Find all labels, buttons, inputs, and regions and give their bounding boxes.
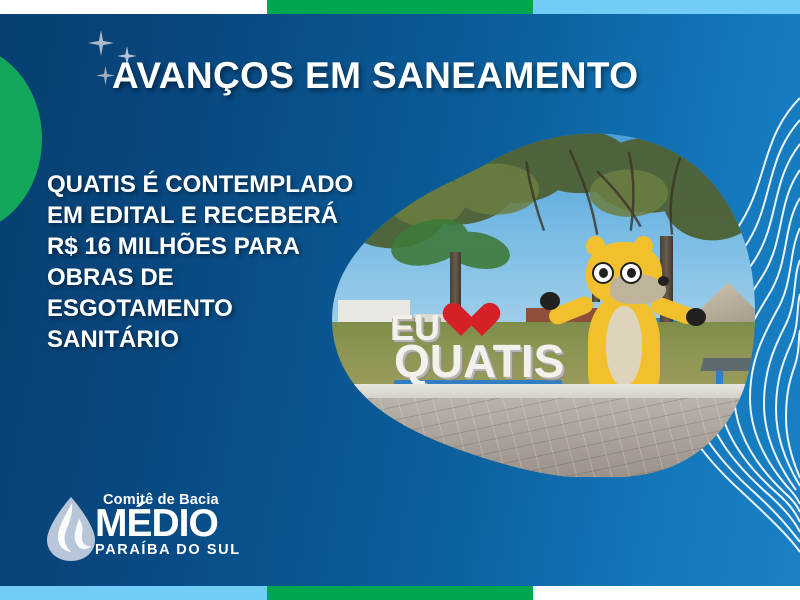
committee-logo: Comitê de Bacia MÉDIO PARAÍBA DO SUL	[45, 492, 250, 568]
strip-segment-white	[533, 586, 800, 600]
mascot-paw-left	[540, 292, 560, 310]
table-top	[700, 358, 755, 371]
mascot-pupil	[627, 268, 636, 278]
mascot-belly	[606, 306, 642, 386]
water-drop-icon	[45, 496, 97, 562]
logo-line-mid: MÉDIO	[95, 507, 255, 541]
mascot-paw-right	[686, 308, 706, 326]
top-color-strip	[0, 0, 800, 14]
green-circle-decoration	[0, 45, 42, 233]
body-line: ESGOTAMENTO	[47, 294, 377, 325]
mascot-pupil	[599, 268, 608, 278]
mascot-eye-left	[592, 262, 614, 284]
banner-graphic: AVANÇOS EM SANEAMENTO QUATIS É CONTEMPLA…	[0, 0, 800, 600]
body-line: R$ 16 MILHÕES PARA	[47, 232, 377, 263]
photo-tree-canopy	[330, 132, 755, 305]
sign-word-quatis: QUATIS	[394, 338, 564, 384]
photo-paving	[330, 398, 755, 477]
strip-segment-lightblue	[0, 586, 267, 600]
body-line: OBRAS DE	[47, 263, 377, 294]
body-copy: QUATIS É CONTEMPLADO EM EDITAL E RECEBER…	[47, 170, 377, 356]
photo-blob: EU QUATIS	[330, 132, 755, 477]
logo-line-bottom: PARAÍBA DO SUL	[95, 542, 255, 558]
body-line: QUATIS É CONTEMPLADO	[47, 170, 377, 201]
eu-quatis-sign: EU QUATIS	[390, 300, 565, 392]
page-title: AVANÇOS EM SANEAMENTO	[112, 57, 752, 96]
body-line: EM EDITAL E RECEBERÁ	[47, 201, 377, 232]
strip-segment-white	[0, 0, 267, 14]
logo-text: Comitê de Bacia MÉDIO PARAÍBA DO SUL	[95, 492, 255, 558]
strip-segment-lightblue	[533, 0, 800, 14]
quatis-square-photo: EU QUATIS	[330, 132, 755, 477]
bottom-color-strip	[0, 586, 800, 600]
strip-segment-green	[267, 0, 533, 14]
mascot-nose	[658, 276, 669, 286]
sparkle-icon	[88, 30, 114, 56]
mascot-eye-right	[620, 262, 642, 284]
body-line: SANITÁRIO	[47, 325, 377, 356]
strip-segment-green	[267, 586, 533, 600]
